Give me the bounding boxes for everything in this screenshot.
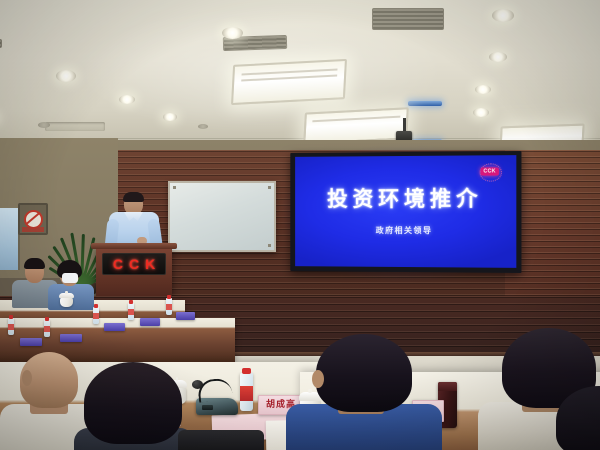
ceiling-downlight [198,124,208,129]
ceiling-light-strip [408,101,442,106]
fg-right-dark-man [556,386,600,450]
projection-screen: CCK 投资环境推介 政府相关领导 [290,151,521,273]
face-mask [62,273,78,283]
water-bottle [93,307,99,324]
ceiling-downlight [119,95,135,104]
name-card-blue [104,323,125,331]
ceiling-downlight [38,122,50,128]
water-bottle [128,303,134,320]
name-card-blue [176,312,195,320]
ear [312,370,324,388]
ceiling-downlight [489,52,507,62]
slide-logo-text: CCK [480,167,499,175]
water-bottle [8,318,14,335]
ceiling-downlight [473,108,489,117]
water-bottle [240,373,253,411]
conference-room-photo: CCK 投资环境推介 政府相关领导 C C K [0,0,600,450]
ceiling [0,0,600,152]
podium-nameplate: C C K [102,253,166,275]
podium-letter-2: C [129,257,139,271]
whiteboard [168,181,276,252]
name-card-blue [20,338,42,346]
fg-blue-polo-man [300,334,426,450]
slide-logo: CCK [476,162,503,180]
ceiling-air-vent [0,39,2,48]
ceiling-downlight [222,27,243,39]
slide-subtitle: 政府相关领导 [295,225,516,237]
desk-microphone [196,375,242,415]
name-card-blue [140,318,160,326]
lidded-teacup [60,293,73,307]
chair-back [178,430,264,450]
ceiling-downlight [56,70,76,82]
podium-letter-3: K [145,257,155,271]
ceiling-air-vent [372,8,444,30]
fg-dark-hair-woman [78,362,188,450]
name-card-blue [60,334,82,342]
ceiling-panel-light [231,59,347,105]
water-bottle [166,298,172,315]
ceiling-downlight [492,9,514,22]
slide-title: 投资环境推介 [295,183,516,213]
no-smoking-sign [18,203,48,235]
ceiling-downlight [163,113,177,121]
water-bottle [44,320,50,337]
ceiling-downlight [475,85,491,94]
podium-letter-1: C [113,257,123,271]
